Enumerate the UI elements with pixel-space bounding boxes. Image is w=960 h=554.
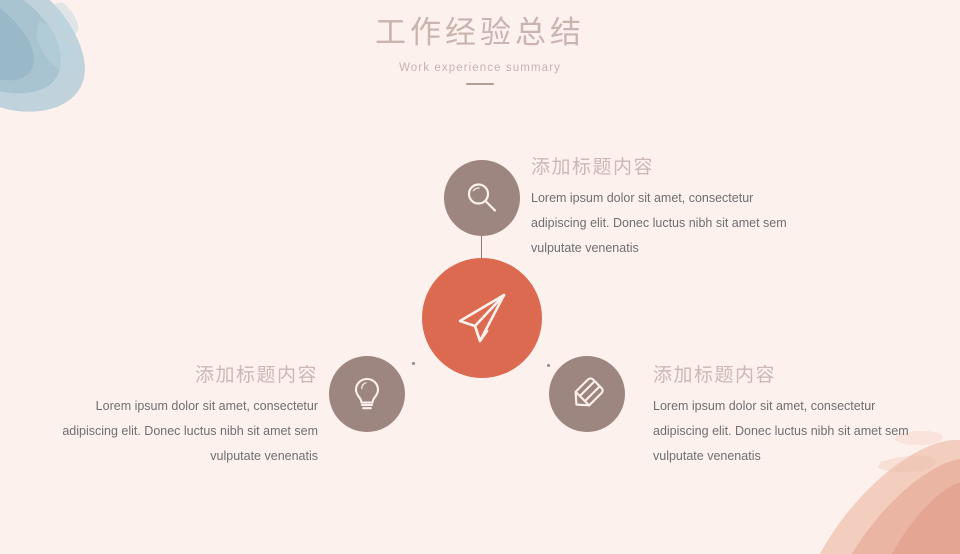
item-body-line: Lorem ipsum dolor sit amet, consectetur (531, 186, 787, 211)
node-circle-left[interactable] (329, 356, 405, 432)
item-body-line: adipiscing elit. Donec luctus nibh sit a… (653, 419, 953, 444)
item-title-top: 添加标题内容 (531, 157, 787, 180)
connector-dot-left (412, 362, 415, 365)
item-title-right: 添加标题内容 (653, 365, 953, 388)
item-body-top: Lorem ipsum dolor sit amet, consectetur … (531, 186, 787, 261)
lightbulb-icon (348, 375, 386, 413)
connector-dot-right (547, 364, 550, 367)
item-body-line: Lorem ipsum dolor sit amet, consectetur (18, 394, 318, 419)
paper-plane-icon (451, 287, 513, 349)
item-body-line: vulputate venenatis (653, 444, 953, 469)
pencil-icon (567, 374, 607, 414)
item-body-line: adipiscing elit. Donec luctus nibh sit a… (531, 211, 787, 236)
item-body-line: adipiscing elit. Donec luctus nibh sit a… (18, 419, 318, 444)
item-body-right: Lorem ipsum dolor sit amet, consectetur … (653, 394, 953, 469)
hub-and-spoke-diagram: 添加标题内容 Lorem ipsum dolor sit amet, conse… (0, 0, 960, 540)
item-body-line: vulputate venenatis (531, 236, 787, 261)
item-body-left: Lorem ipsum dolor sit amet, consectetur … (18, 394, 318, 469)
magnifier-icon (463, 179, 501, 217)
text-block-right: 添加标题内容 Lorem ipsum dolor sit amet, conse… (653, 365, 953, 469)
node-circle-top[interactable] (444, 160, 520, 236)
text-block-top: 添加标题内容 Lorem ipsum dolor sit amet, conse… (531, 157, 787, 261)
node-circle-right[interactable] (549, 356, 625, 432)
text-block-left: 添加标题内容 Lorem ipsum dolor sit amet, conse… (18, 365, 318, 469)
connector-line-top (481, 236, 482, 260)
item-body-line: vulputate venenatis (18, 444, 318, 469)
item-body-line: Lorem ipsum dolor sit amet, consectetur (653, 394, 953, 419)
hub-circle[interactable] (422, 258, 542, 378)
item-title-left: 添加标题内容 (18, 365, 318, 388)
